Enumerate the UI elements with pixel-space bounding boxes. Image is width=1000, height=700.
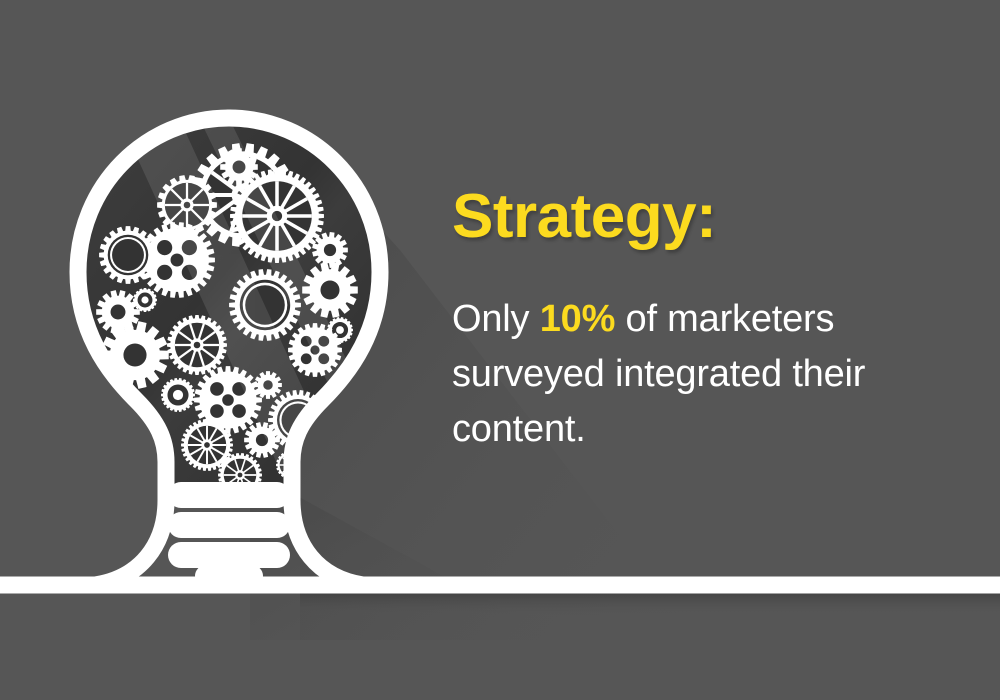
gear [161,378,195,412]
statistic-statement: Only 10% of marketers surveyed integrate… [452,292,972,457]
statistic-value: 10% [540,298,615,340]
gear [133,288,157,312]
base-band [168,482,290,508]
infographic-canvas: Strategy: Only 10% of marketers surveyed… [0,0,1000,700]
page-title: Strategy: [452,186,972,248]
baseline-shadow [300,590,1000,616]
text-content: Strategy: Only 10% of marketers surveyed… [452,186,972,457]
bulb-to-baseline-left [0,500,166,585]
base-band [168,512,290,538]
base-band [168,542,290,568]
statement-lead: Only [452,298,540,340]
base-band [195,565,263,587]
